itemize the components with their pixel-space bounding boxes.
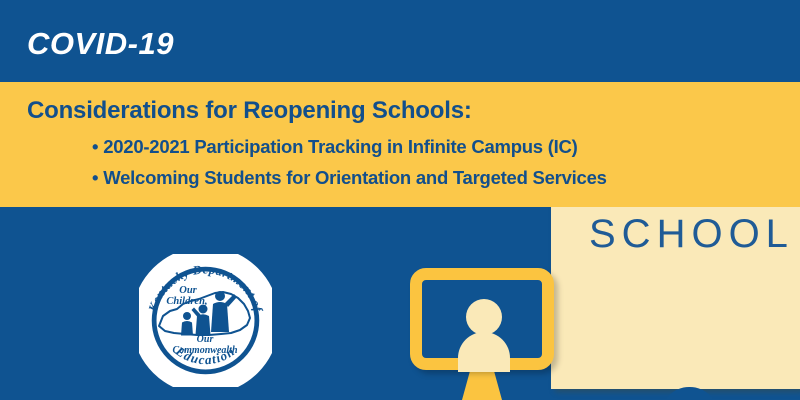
banner-bullet-list: •2020-2021 Participation Tracking in Inf…: [92, 138, 607, 199]
bullet-dot-icon: •: [92, 138, 98, 157]
banner-bullet-text: Welcoming Students for Orientation and T…: [103, 167, 606, 188]
seal-inner-line-1: Our: [179, 285, 197, 296]
kde-seal-icon: Kentucky Department of Education: [139, 254, 272, 387]
school-sign-text: SCHOOL: [551, 214, 800, 254]
banner-heading: Considerations for Reopening Schools:: [27, 99, 472, 123]
monitor-stand: [462, 368, 502, 400]
monitor-person-icon: [410, 268, 558, 400]
header-band: COVID-19: [0, 0, 800, 82]
banner-bullet-item: •2020-2021 Participation Tracking in Inf…: [92, 138, 607, 157]
yellow-banner: Considerations for Reopening Schools: •2…: [0, 82, 800, 207]
banner-bullet-text: 2020-2021 Participation Tracking in Infi…: [103, 136, 577, 157]
bullet-dot-icon: •: [92, 169, 98, 188]
poster-canvas: COVID-19 SCHOOL Considerations for Reope…: [0, 0, 800, 400]
seal-inner-line-2: Children,: [166, 296, 207, 307]
seal-inner-line-4: Commonwealth: [172, 345, 237, 356]
banner-bullet-item: •Welcoming Students for Orientation and …: [92, 169, 607, 188]
covid-title: COVID-19: [27, 28, 174, 59]
seal-inner-line-3: Our: [197, 334, 214, 345]
person-head-icon: [466, 299, 502, 335]
